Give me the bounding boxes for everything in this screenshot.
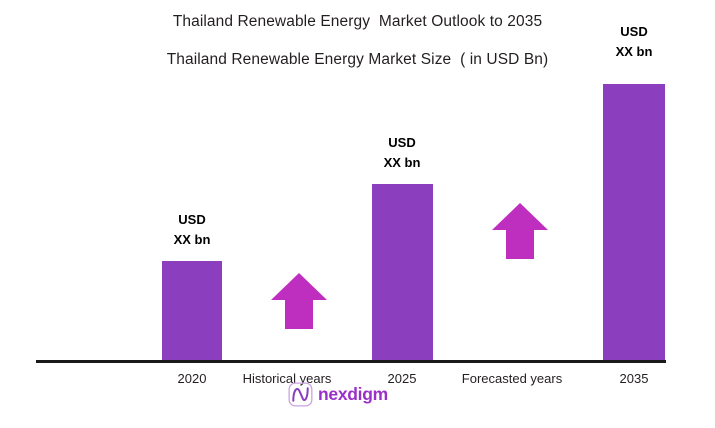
data-label-2025: USD XX bn	[342, 133, 462, 173]
data-label-2020: USD XX bn	[132, 210, 252, 250]
data-label-2035-currency: USD	[574, 22, 694, 42]
data-label-2020-amount: XX bn	[132, 230, 252, 250]
x-axis-label-forecasted-years: Forecasted years	[442, 370, 582, 387]
data-label-2020-currency: USD	[132, 210, 252, 230]
growth-arrow-up-icon-historical	[268, 270, 330, 332]
brand-wordmark: nexdigm	[318, 382, 388, 407]
growth-arrow-up-icon-forecasted	[489, 200, 551, 262]
plot-area: USD XX bn USD XX bn USD XX bn 2020 Histo…	[0, 0, 715, 428]
chart-container: Thailand Renewable Energy Market Outlook…	[0, 0, 715, 428]
data-label-2025-amount: XX bn	[342, 153, 462, 173]
bar-2025[interactable]	[372, 184, 433, 360]
x-axis-line	[36, 360, 666, 363]
data-label-2035: USD XX bn	[574, 22, 694, 62]
brand-logo: nexdigm	[288, 381, 428, 407]
data-label-2035-amount: XX bn	[574, 42, 694, 62]
x-axis-label-2035: 2035	[584, 370, 684, 387]
bar-2020[interactable]	[162, 261, 222, 360]
data-label-2025-currency: USD	[342, 133, 462, 153]
nexdigm-wave-mark-icon	[288, 382, 313, 407]
bar-2035[interactable]	[603, 84, 665, 360]
